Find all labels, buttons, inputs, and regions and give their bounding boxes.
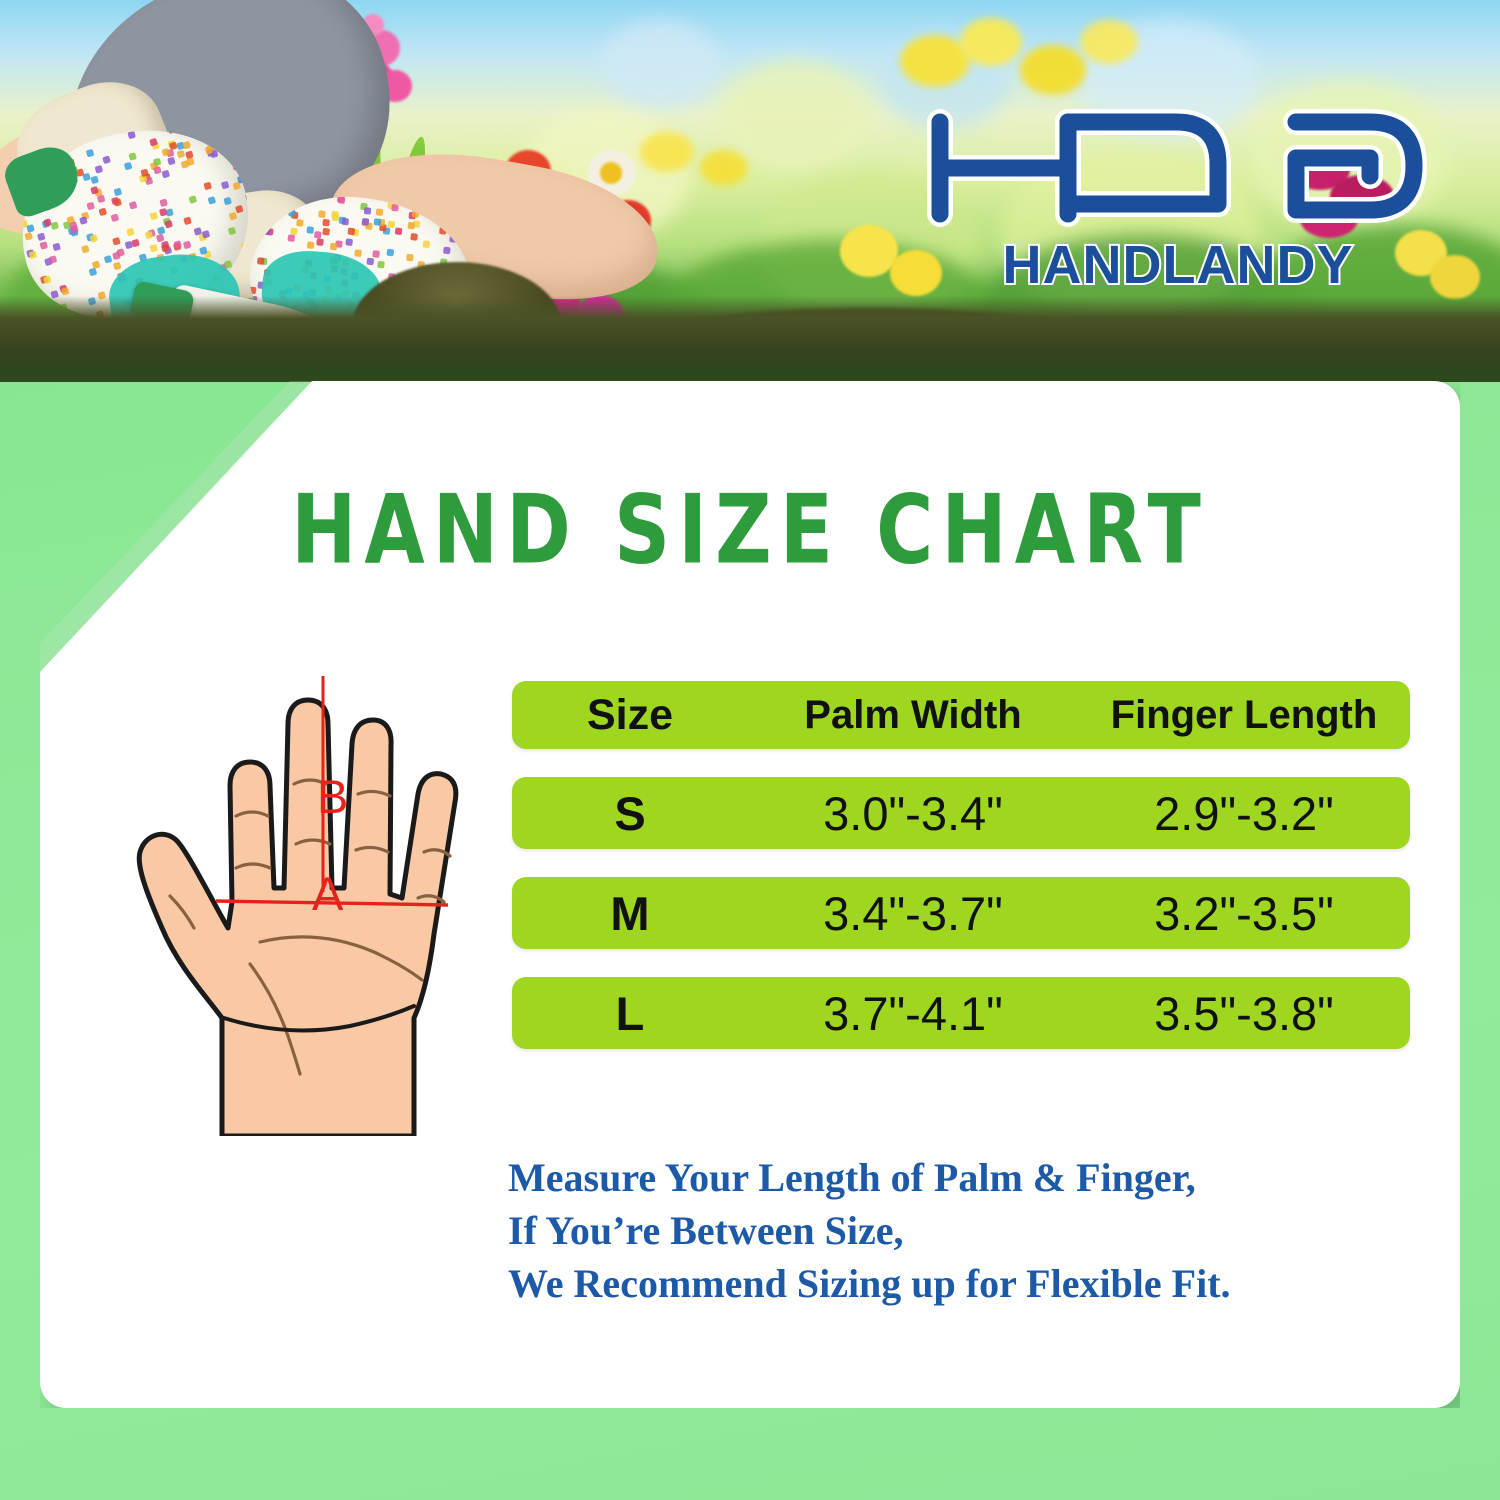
hand-measurement-diagram: B A [118, 666, 518, 1136]
hero-photo: HANDLANDY [0, 0, 1500, 382]
cell-finger: 3.5"-3.8" [1078, 986, 1410, 1041]
table-row: S 3.0"-3.4" 2.9"-3.2" [512, 777, 1410, 849]
table-row: M 3.4"-3.7" 3.2"-3.5" [512, 877, 1410, 949]
column-header-size: Size [512, 691, 748, 740]
cell-size: S [512, 786, 748, 841]
cell-size: M [512, 886, 748, 941]
cell-palm: 3.0"-3.4" [748, 786, 1078, 841]
cell-finger: 3.2"-3.5" [1078, 886, 1410, 941]
handlandy-hd-monogram-icon [918, 92, 1438, 232]
cell-finger: 2.9"-3.2" [1078, 786, 1410, 841]
cell-palm: 3.7"-4.1" [748, 986, 1078, 1041]
brand-logo: HANDLANDY [918, 92, 1438, 292]
sizing-note-line-1: Measure Your Length of Palm & Finger, [508, 1151, 1231, 1204]
sizing-note-line-3: We Recommend Sizing up for Flexible Fit. [508, 1257, 1231, 1310]
page-title: HAND SIZE CHART [40, 476, 1460, 586]
label-a: A [312, 866, 343, 921]
brand-name: HANDLANDY [918, 234, 1438, 296]
size-table: Size Palm Width Finger Length S 3.0"-3.4… [512, 681, 1410, 1077]
table-row: L 3.7"-4.1" 3.5"-3.8" [512, 977, 1410, 1049]
column-header-finger: Finger Length [1078, 693, 1410, 738]
sizing-note-line-2: If You’re Between Size, [508, 1204, 1231, 1257]
cell-size: L [512, 986, 748, 1041]
cell-palm: 3.4"-3.7" [748, 886, 1078, 941]
poster-root: HANDLANDY HAND SIZE CHART [0, 0, 1500, 1500]
sizing-note: Measure Your Length of Palm & Finger, If… [508, 1151, 1231, 1310]
size-chart-card: HAND SIZE CHART [40, 381, 1460, 1408]
table-header-row: Size Palm Width Finger Length [512, 681, 1410, 749]
column-header-palm: Palm Width [748, 693, 1078, 738]
label-b: B [317, 769, 348, 824]
